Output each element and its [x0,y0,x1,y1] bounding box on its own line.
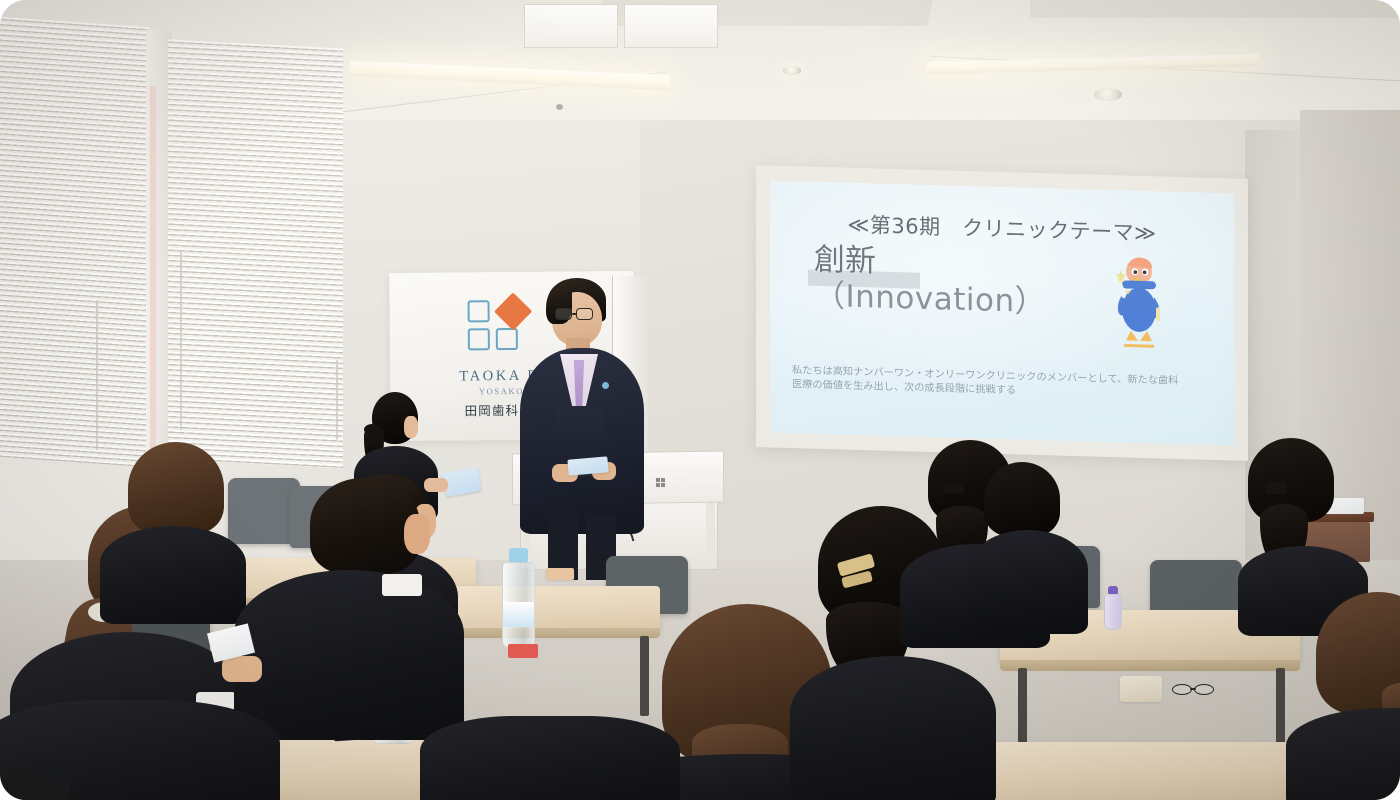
assistant-face [404,416,418,438]
bottle-cap [509,548,527,562]
ceiling-beam [1030,0,1400,18]
window-frame-gap [150,86,156,476]
glasses-case[interactable] [1120,676,1162,702]
bottle-label [503,602,534,627]
window-blinds[interactable] [0,17,150,467]
slide-keyword-group: 創新 （Innovation） [814,244,1046,323]
hair-clip-icon [944,484,964,494]
desk [940,742,1340,800]
audience-hand [222,656,262,682]
eyeglasses-icon [576,308,593,320]
lectern-leg [706,500,715,568]
hair-tie [364,424,381,435]
audience-suit [234,570,464,740]
presenter [516,278,646,578]
lectern-panel-right [624,4,718,48]
audience-ear [404,514,430,554]
eyeglasses-bridge [572,313,577,315]
bottle-cap [1108,586,1118,594]
shirt-collar [382,574,422,596]
eyeglasses-bridge [1190,688,1196,690]
eyeglasses-icon[interactable] [1172,684,1192,695]
blind-cord[interactable] [180,250,182,430]
cup [546,568,574,580]
recessed-downlight [1094,88,1122,101]
audience-hair [984,462,1060,536]
audience-member [1238,438,1368,618]
eyeglasses-icon[interactable] [1194,684,1214,695]
bottle-body [1104,594,1122,630]
logo-square-icon [468,300,490,322]
desk-edge [1000,660,1300,671]
audience-member [968,462,1088,632]
projection-screen: ≪第36期 クリニックテーマ≫ 創新 （Innovation） [756,165,1248,461]
logo-square-icon [496,328,518,350]
audience-foreground [420,716,680,800]
audience-suit [100,526,246,624]
presentation-photo: ≪第36期 クリニックテーマ≫ 創新 （Innovation） [0,0,1400,800]
water-bottle[interactable] [502,548,535,648]
slide-body-text: 私たちは高知ナンバーワン・オンリーワンクリニックのメンバーとして、新たな歯科医療… [792,364,1184,404]
eyeglasses-icon [555,308,572,320]
red-item [508,644,538,658]
blind-cord[interactable] [96,300,98,450]
hair-clip-icon [1266,482,1286,494]
window-blinds[interactable] [168,39,343,468]
panel-dots-icon [656,478,666,488]
audience-suit [968,530,1088,634]
recessed-downlight [783,66,801,75]
lectern-panel-left [524,4,618,48]
slide-keyword-en: （Innovation） [814,277,1046,322]
presentation-slide: ≪第36期 クリニックテーマ≫ 創新 （Innovation） [770,181,1234,446]
audience-member [234,478,464,738]
audience-hair [128,442,224,534]
logo-square-icon [468,328,490,350]
blind-cord[interactable] [336,360,338,440]
sprinkler-head [556,104,563,110]
audience-suit [790,656,996,800]
lapel-pin-icon [602,382,609,389]
audience-member [76,442,246,622]
audience-member [1286,592,1400,800]
chick-mascot-icon [1100,252,1172,354]
bottle-body [502,562,535,648]
presenter-vest [556,406,604,498]
camera-strap [14,766,70,800]
audience-suit [1286,708,1400,800]
water-bottle[interactable] [1104,586,1122,630]
